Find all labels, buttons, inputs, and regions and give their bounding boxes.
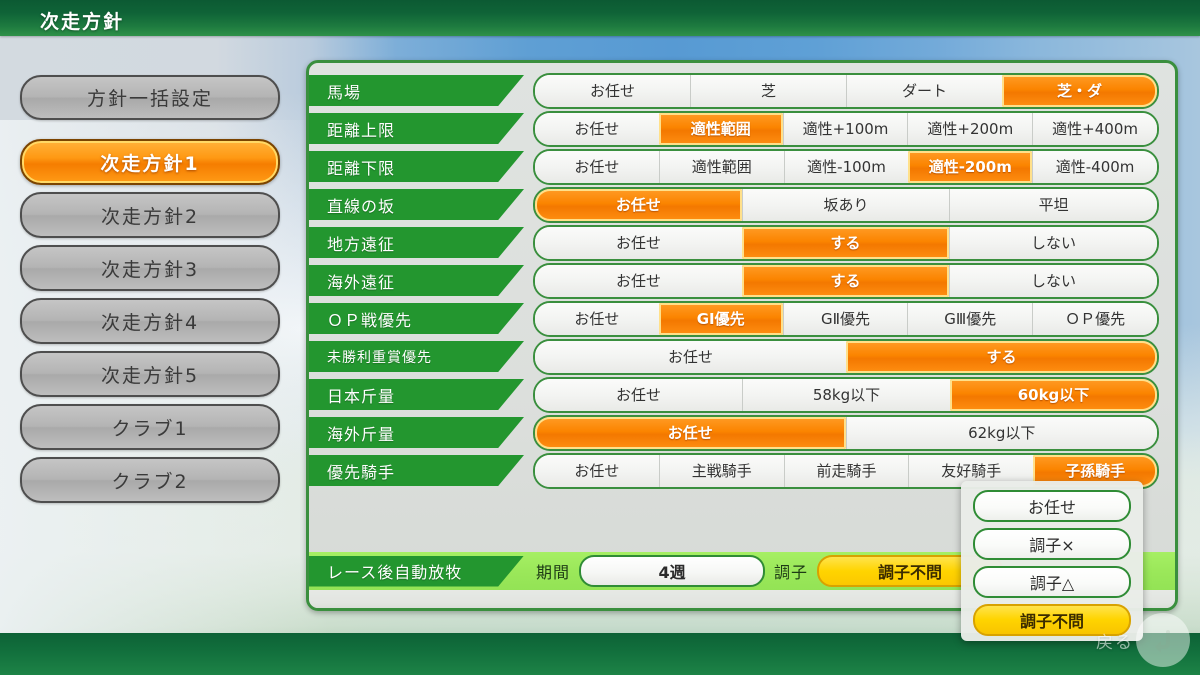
row-label: 海外遠征 xyxy=(309,265,524,296)
settings-row: 距離上限お任せ適性範囲適性+100m適性+200m適性+400m xyxy=(309,110,1175,147)
settings-row-list: 馬場お任せ芝ダート芝・ダ距離上限お任せ適性範囲適性+100m適性+200m適性+… xyxy=(309,63,1175,489)
row-label: 海外斤量 xyxy=(309,417,524,448)
segment-option[interactable]: 主戦騎手 xyxy=(659,455,784,487)
row-label: 未勝利重賞優先 xyxy=(309,341,524,372)
segmented-control: お任せ坂あり平坦 xyxy=(533,187,1159,223)
row-label: 距離上限 xyxy=(309,113,524,144)
segmented-control: お任せする xyxy=(533,339,1159,375)
row-label-text: ＯＰ戦優先 xyxy=(309,307,412,331)
segment-option[interactable]: お任せ xyxy=(535,75,690,107)
segment-option[interactable]: 平坦 xyxy=(949,189,1157,221)
row-label-text: 直線の坂 xyxy=(309,193,395,217)
segment-option[interactable]: 適性-400m xyxy=(1032,151,1157,183)
sidebar-item-label: 次走方針4 xyxy=(101,308,199,335)
segment-option[interactable]: 適性+100m xyxy=(783,113,908,145)
segment-option[interactable]: しない xyxy=(949,227,1157,259)
segment-option[interactable]: お任せ xyxy=(535,113,659,145)
sidebar-item-list: 次走方針1次走方針2次走方針3次走方針4次走方針5クラブ1クラブ2 xyxy=(20,139,280,503)
row-label-text: 距離上限 xyxy=(309,117,395,141)
segment-option[interactable]: お任せ xyxy=(535,227,742,259)
settings-row: 未勝利重賞優先お任せする xyxy=(309,338,1175,375)
sidebar-spacer xyxy=(20,127,280,139)
row-label-text: 海外斤量 xyxy=(309,421,395,445)
segment-option[interactable]: 58kg以下 xyxy=(742,379,950,411)
row-label-text: 日本斤量 xyxy=(309,383,395,407)
segmented-control: お任せ62kg以下 xyxy=(533,415,1159,451)
bulk-settings-button[interactable]: 方針一括設定 xyxy=(20,75,280,120)
back-arrow-icon xyxy=(1136,613,1190,667)
sidebar-item-5[interactable]: 次走方針5 xyxy=(20,351,280,397)
segmented-control: お任せ芝ダート芝・ダ xyxy=(533,73,1159,109)
segment-option[interactable]: しない xyxy=(949,265,1157,297)
segment-option[interactable]: ダート xyxy=(846,75,1002,107)
sidebar-item-1[interactable]: 次走方針1 xyxy=(20,139,280,185)
row-label-text: 馬場 xyxy=(309,79,361,103)
segment-option[interactable]: 前走騎手 xyxy=(784,455,909,487)
back-button-label: 戻る xyxy=(1096,628,1134,653)
sidebar-item-label: クラブ1 xyxy=(111,414,188,441)
settings-row: 馬場お任せ芝ダート芝・ダ xyxy=(309,72,1175,109)
period-label: 期間 xyxy=(536,559,570,583)
segment-option[interactable]: 芝・ダ xyxy=(1002,75,1157,107)
row-label: 直線の坂 xyxy=(309,189,524,220)
segment-option[interactable]: 適性+400m xyxy=(1032,113,1157,145)
segment-option[interactable]: 適性範囲 xyxy=(659,113,783,145)
segmented-control: お任せするしない xyxy=(533,263,1159,299)
dropdown-option[interactable]: 調子× xyxy=(973,528,1131,560)
sidebar-item-2[interactable]: 次走方針2 xyxy=(20,192,280,238)
segment-option[interactable]: 芝 xyxy=(690,75,846,107)
segment-option[interactable]: ＯＰ優先 xyxy=(1032,303,1157,335)
segment-option[interactable]: GⅡ優先 xyxy=(783,303,908,335)
settings-row: ＯＰ戦優先お任せGⅠ優先GⅡ優先GⅢ優先ＯＰ優先 xyxy=(309,300,1175,337)
settings-row: 距離下限お任せ適性範囲適性-100m適性-200m適性-400m xyxy=(309,148,1175,185)
segment-option[interactable]: 適性-200m xyxy=(908,151,1032,183)
segmented-control: お任せするしない xyxy=(533,225,1159,261)
segment-option[interactable]: する xyxy=(742,227,949,259)
condition-label: 調子 xyxy=(774,559,808,583)
sidebar-item-label: 次走方針3 xyxy=(101,255,199,282)
row-label-text: 地方遠征 xyxy=(309,231,395,255)
dropdown-option[interactable]: お任せ xyxy=(973,490,1131,522)
segment-option[interactable]: 適性-100m xyxy=(784,151,909,183)
sidebar-item-label: クラブ2 xyxy=(111,467,188,494)
row-label: ＯＰ戦優先 xyxy=(309,303,524,334)
row-label: 距離下限 xyxy=(309,151,524,182)
sidebar: 方針一括設定 次走方針1次走方針2次走方針3次走方針4次走方針5クラブ1クラブ2 xyxy=(20,75,280,510)
settings-row: 地方遠征お任せするしない xyxy=(309,224,1175,261)
segment-option[interactable]: する xyxy=(742,265,949,297)
back-button[interactable]: 戻る xyxy=(1096,613,1190,667)
segment-option[interactable]: お任せ xyxy=(535,417,846,449)
sidebar-item-label: 次走方針1 xyxy=(100,149,199,176)
segment-option[interactable]: 坂あり xyxy=(742,189,950,221)
segment-option[interactable]: お任せ xyxy=(535,151,659,183)
row-label: 地方遠征 xyxy=(309,227,524,258)
settings-row: 直線の坂お任せ坂あり平坦 xyxy=(309,186,1175,223)
segmented-control: お任せ適性範囲適性-100m適性-200m適性-400m xyxy=(533,149,1159,185)
settings-row: 海外斤量お任せ62kg以下 xyxy=(309,414,1175,451)
dropdown-option[interactable]: 調子△ xyxy=(973,566,1131,598)
period-value-button[interactable]: 4週 xyxy=(579,555,765,587)
segmented-control: お任せGⅠ優先GⅡ優先GⅢ優先ＯＰ優先 xyxy=(533,301,1159,337)
sidebar-item-label: 次走方針2 xyxy=(101,202,199,229)
row-label: 馬場 xyxy=(309,75,524,106)
segment-option[interactable]: お任せ xyxy=(535,265,742,297)
segment-option[interactable]: お任せ xyxy=(535,455,659,487)
settings-row: 海外遠征お任せするしない xyxy=(309,262,1175,299)
row-label-text: 海外遠征 xyxy=(309,269,395,293)
auto-pasture-controls: 期間 4週 調子 調子不問 xyxy=(536,555,1003,587)
auto-pasture-label-text: レース後自動放牧 xyxy=(309,559,462,583)
segment-option[interactable]: お任せ xyxy=(535,341,846,373)
row-label: 日本斤量 xyxy=(309,379,524,410)
segmented-control: お任せ適性範囲適性+100m適性+200m適性+400m xyxy=(533,111,1159,147)
segment-option[interactable]: お任せ xyxy=(535,379,742,411)
sidebar-item-6[interactable]: クラブ1 xyxy=(20,404,280,450)
row-label-text: 距離下限 xyxy=(309,155,395,179)
sidebar-item-3[interactable]: 次走方針3 xyxy=(20,245,280,291)
sidebar-item-4[interactable]: 次走方針4 xyxy=(20,298,280,344)
segment-option[interactable]: する xyxy=(846,341,1157,373)
segment-option[interactable]: 適性+200m xyxy=(907,113,1032,145)
segment-option[interactable]: お任せ xyxy=(535,189,742,221)
segment-option[interactable]: 60kg以下 xyxy=(950,379,1157,411)
row-label-text: 優先騎手 xyxy=(309,459,395,483)
sidebar-item-label: 次走方針5 xyxy=(101,361,199,388)
segment-option[interactable]: お任せ xyxy=(535,303,659,335)
row-label: 優先騎手 xyxy=(309,455,524,486)
title-bar: 次走方針 xyxy=(0,0,1200,36)
segment-option[interactable]: 適性範囲 xyxy=(659,151,784,183)
segment-option[interactable]: 62kg以下 xyxy=(846,417,1158,449)
page-title: 次走方針 xyxy=(40,7,124,34)
segment-option[interactable]: GⅢ優先 xyxy=(907,303,1032,335)
segment-option[interactable]: GⅠ優先 xyxy=(659,303,783,335)
auto-pasture-label: レース後自動放牧 xyxy=(309,556,524,587)
settings-row: 日本斤量お任せ58kg以下60kg以下 xyxy=(309,376,1175,413)
row-label-text: 未勝利重賞優先 xyxy=(309,347,432,367)
sidebar-item-7[interactable]: クラブ2 xyxy=(20,457,280,503)
segmented-control: お任せ58kg以下60kg以下 xyxy=(533,377,1159,413)
